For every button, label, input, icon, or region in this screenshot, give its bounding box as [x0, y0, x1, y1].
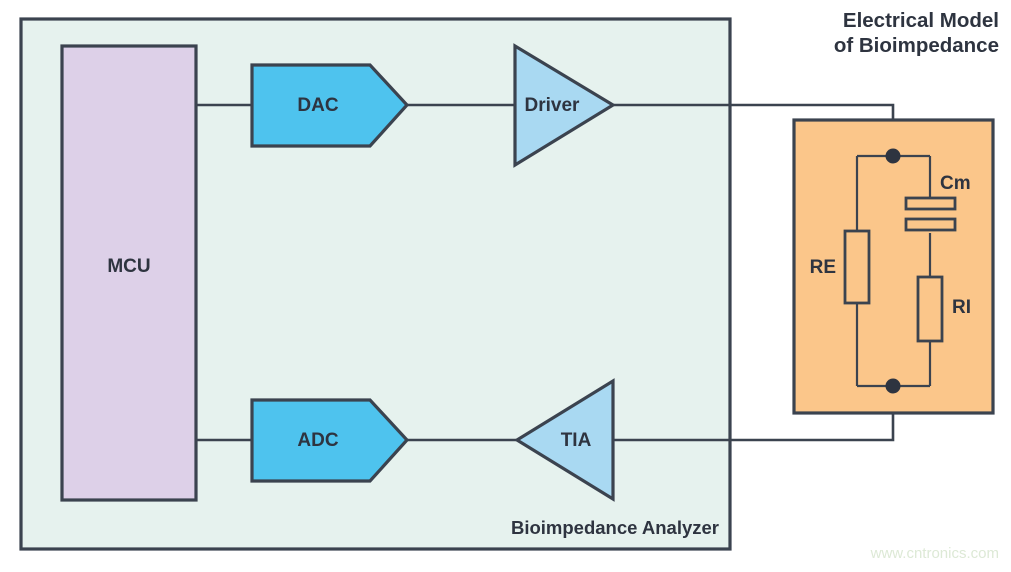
analyzer-caption: Bioimpedance Analyzer [511, 517, 719, 538]
ri-resistor[interactable] [918, 277, 942, 341]
cm-plate-top[interactable] [906, 198, 955, 209]
mcu-label: MCU [107, 256, 150, 277]
block-diagram-svg: MCU DAC Driver ADC TIA Bioimpedance Anal… [0, 0, 1011, 572]
cm-label: Cm [940, 173, 971, 194]
dac-label: DAC [297, 95, 338, 116]
model-title-line1: Electrical Model [843, 9, 999, 32]
adc-label: ADC [297, 430, 338, 451]
ri-label: RI [952, 297, 971, 318]
model-top-junction-dot [886, 149, 901, 164]
cm-plate-bottom[interactable] [906, 219, 955, 230]
re-label: RE [810, 257, 836, 278]
model-title-line2: of Bioimpedance [834, 34, 999, 57]
driver-label: Driver [525, 95, 581, 116]
model-bottom-junction-dot [886, 379, 901, 394]
tia-label: TIA [561, 430, 592, 451]
re-resistor[interactable] [845, 231, 869, 303]
watermark-text: www.cntronics.com [870, 545, 999, 562]
diagram-canvas: MCU DAC Driver ADC TIA Bioimpedance Anal… [0, 0, 1011, 572]
